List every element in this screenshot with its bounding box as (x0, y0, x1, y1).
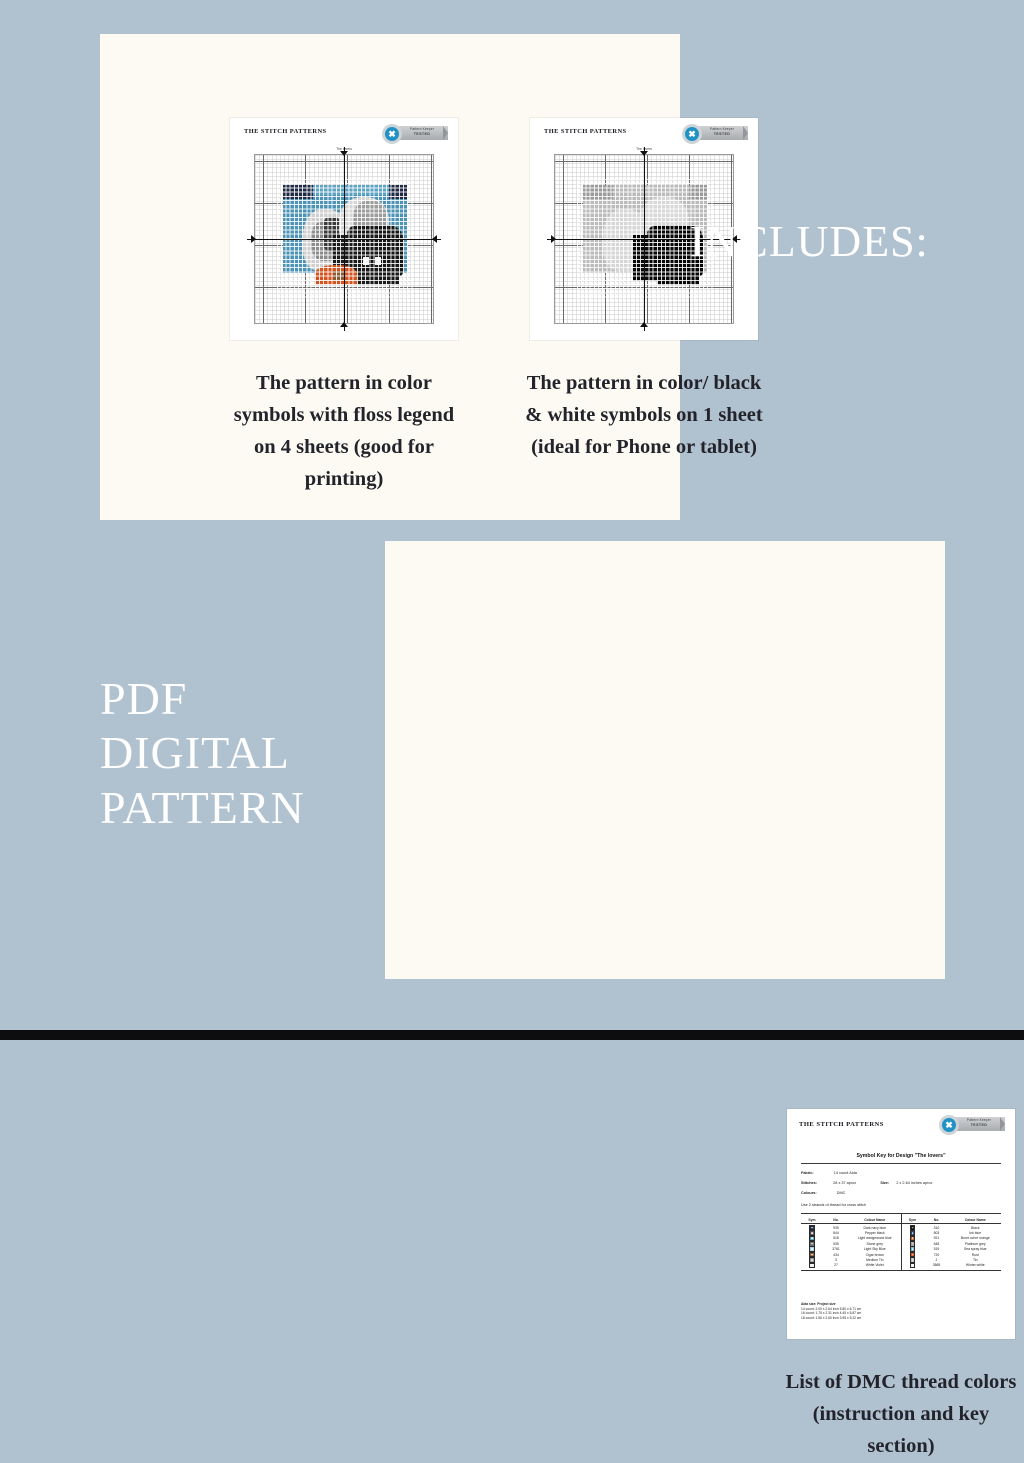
badge-line-2: TESTED (953, 1123, 1005, 1127)
symbol-key-table: Sym No. Colour Name 939Dark navy blue844… (801, 1213, 1001, 1271)
thread-colour-name: Tin (950, 1258, 1002, 1262)
thread-number: 720 (924, 1253, 950, 1257)
brand-title: THE STITCH PATTERNS (544, 128, 627, 135)
stitches-value: 28 x 37 aprox (833, 1181, 856, 1185)
caption-dmc-list: List of DMC thread colors (instruction a… (785, 1367, 1017, 1463)
thread-colour-name: Light wedgewood blue (849, 1236, 901, 1240)
thread-number: 519 (924, 1247, 950, 1251)
brand-title: THE STITCH PATTERNS (244, 128, 327, 135)
sheet-header: THE STITCH PATTERNS Pattern Keeper TESTE… (787, 1109, 1015, 1137)
badge-seal-icon: ✖ (682, 124, 702, 144)
thread-number: 939 (823, 1226, 849, 1230)
thread-colour-name: Stone grey (849, 1242, 901, 1246)
badge-line-1: Pattern Keeper (953, 1118, 1005, 1122)
stitches-label: Stitches: (801, 1181, 817, 1185)
thread-colour-name: Dark navy blue (849, 1226, 901, 1230)
includes-heading: INCLUDES: (690, 216, 929, 267)
symbol-key-column-left: Sym No. Colour Name 939Dark navy blue844… (801, 1214, 901, 1270)
table-header-row: Sym No. Colour Name (801, 1216, 901, 1224)
strands-note: Use 2 strands of thread for cross stitch (801, 1203, 866, 1207)
thread-number: 518 (823, 1236, 849, 1240)
badge-line-1: Pattern Keeper (696, 127, 748, 131)
brand-title: THE STITCH PATTERNS (799, 1121, 884, 1128)
poster-canvas: THE STITCH PATTERNS Pattern Keeper TESTE… (0, 0, 1024, 1040)
thread-number: 3761 (823, 1247, 849, 1251)
badge-ribbon: Pattern Keeper TESTED (953, 1117, 1005, 1131)
symbol-key-column-right: Sym No. Colour Name 310Black803Ink blue9… (901, 1214, 1002, 1270)
thread-colour-name: Sea spray blue (950, 1247, 1002, 1251)
header-no: No. (823, 1218, 849, 1222)
pdf-heading-line-1: DIGITAL (100, 726, 305, 780)
badge-x-glyph: ✖ (685, 127, 699, 141)
thread-number: 3 (823, 1258, 849, 1262)
badge-ribbon: Pattern Keeper TESTED (696, 126, 748, 140)
table-row: 27White Violet (801, 1263, 901, 1268)
symbol-key-title: Symbol Key for Design "The lovers" (787, 1153, 1015, 1159)
thread-colour-name: Rust (950, 1253, 1002, 1257)
badge-seal-icon: ✖ (382, 124, 402, 144)
thread-colour-name: Winter white (950, 1263, 1002, 1267)
stitch-grid (254, 154, 434, 324)
aida-size-line-2: 18 count: 1.56 x 2.60 inch 3.95 x 5.22 c… (801, 1316, 861, 1321)
thread-colour-name: Ink blue (950, 1231, 1002, 1235)
thread-number: 310 (924, 1226, 950, 1230)
badge-line-2: TESTED (396, 132, 448, 136)
caption-color-symbols: The pattern in color symbols with floss … (230, 368, 458, 496)
colours-value: DMC (837, 1191, 846, 1195)
thread-number: 921 (924, 1236, 950, 1240)
thread-swatch-icon (902, 1263, 924, 1269)
size-value: 2 x 2.64 inches aprox (896, 1181, 932, 1185)
bottom-bar (0, 1030, 1024, 1040)
thread-swatch-icon (801, 1263, 823, 1269)
pdf-heading-line-0: PDF (100, 672, 305, 726)
thread-number: 27 (823, 1263, 849, 1267)
size-label: Size: (880, 1181, 889, 1185)
pattern-keeper-badge: Pattern Keeper TESTED ✖ (382, 124, 448, 144)
fabric-label: Fabric: (801, 1171, 814, 1175)
badge-line-1: Pattern Keeper (396, 127, 448, 131)
caption-bw-symbols: The pattern in color/ black & white symb… (520, 368, 768, 464)
sheet-header: THE STITCH PATTERNS Pattern Keeper TESTE… (230, 118, 458, 146)
sheet-color-symbol-chart[interactable]: THE STITCH PATTERNS Pattern Keeper TESTE… (230, 118, 458, 340)
sheet-header: THE STITCH PATTERNS Pattern Keeper TESTE… (530, 118, 758, 146)
thread-number: 3865 (924, 1263, 950, 1267)
thread-colour-name: Platinum grey (950, 1242, 1002, 1246)
thread-number: 844 (823, 1231, 849, 1235)
thread-number: 648 (924, 1242, 950, 1246)
thread-colour-name: Light Sky Blue (849, 1247, 901, 1251)
fabric-row: Fabric: 14 count Aida (801, 1171, 857, 1175)
header-no: No. (924, 1218, 950, 1222)
header-colour-name: Colour Name (950, 1218, 1002, 1222)
chart-area: The lovers (254, 154, 434, 326)
pdf-digital-pattern-heading: PDFDIGITALPATTERN (100, 672, 305, 835)
aida-title: Aida size: Project size (801, 1302, 836, 1306)
thread-colour-name: Cigar brown (849, 1253, 901, 1257)
divider (801, 1163, 1001, 1164)
header-colour-name: Colour Name (849, 1218, 901, 1222)
thread-colour-name: Pepper black (849, 1231, 901, 1235)
thread-number: 803 (924, 1231, 950, 1235)
colours-row: Colours: DMC (801, 1191, 845, 1195)
colours-label: Colours: (801, 1191, 817, 1195)
table-header-row: Sym No. Colour Name (902, 1216, 1002, 1224)
thread-colour-name: White Violet (849, 1263, 901, 1267)
bottom-panel: THE STITCH PATTERNS Pattern Keeper TESTE… (385, 541, 945, 979)
top-panel: THE STITCH PATTERNS Pattern Keeper TESTE… (100, 34, 680, 520)
stitches-row: Stitches: 28 x 37 aprox Size: 2 x 2.64 i… (801, 1181, 932, 1185)
header-sym: Sym (902, 1218, 924, 1222)
thread-number: 434 (823, 1253, 849, 1257)
sheet-symbol-key[interactable]: THE STITCH PATTERNS Pattern Keeper TESTE… (787, 1109, 1015, 1339)
header-sym: Sym (801, 1218, 823, 1222)
pattern-keeper-badge: Pattern Keeper TESTED ✖ (939, 1115, 1005, 1135)
thread-number: 535 (823, 1242, 849, 1246)
badge-seal-icon: ✖ (939, 1115, 959, 1135)
badge-x-glyph: ✖ (942, 1118, 956, 1132)
thread-colour-name: Medium Tin (849, 1258, 901, 1262)
aida-size-block: Aida size: Project size 14 count: 2.00 x… (801, 1302, 861, 1321)
badge-ribbon: Pattern Keeper TESTED (396, 126, 448, 140)
pdf-heading-line-2: PATTERN (100, 781, 305, 835)
thread-colour-name: Burnt ochre orange (950, 1236, 1002, 1240)
thread-number: 2 (924, 1258, 950, 1262)
thread-colour-name: Black (950, 1226, 1002, 1230)
badge-line-2: TESTED (696, 132, 748, 136)
table-row: 3865Winter white (902, 1263, 1002, 1268)
pattern-keeper-badge: Pattern Keeper TESTED ✖ (682, 124, 748, 144)
fabric-value: 14 count Aida (834, 1171, 857, 1175)
badge-x-glyph: ✖ (385, 127, 399, 141)
